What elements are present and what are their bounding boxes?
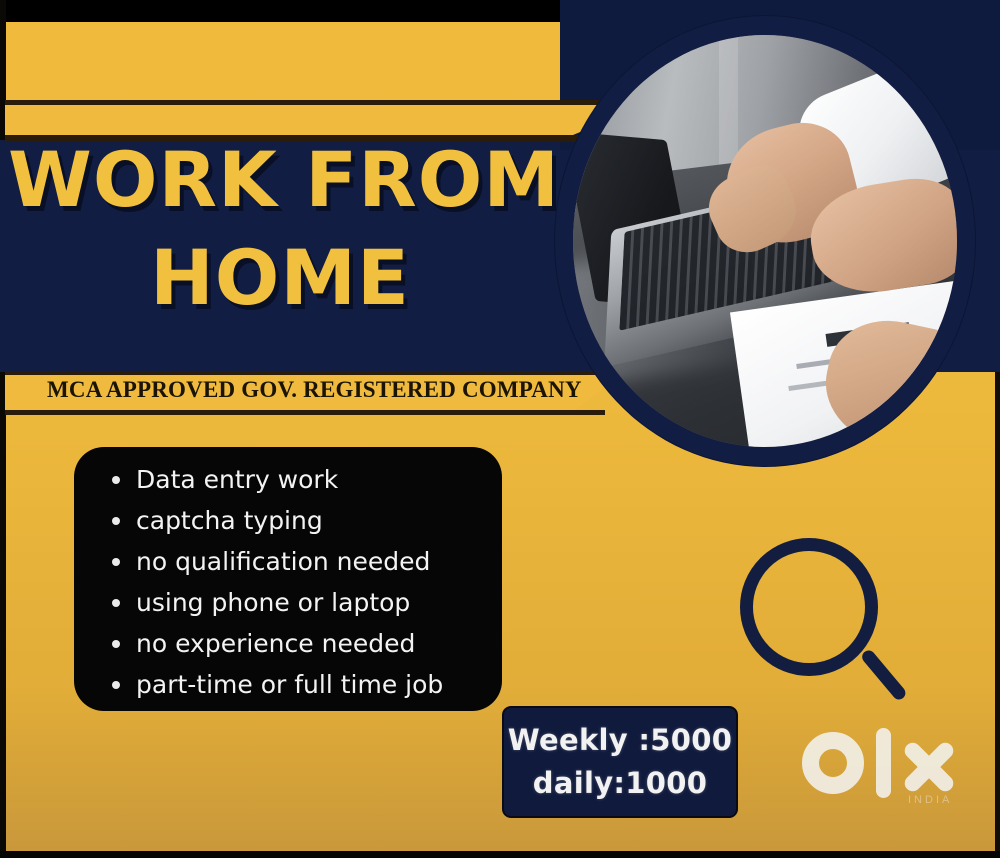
weekly-earnings-text: Weekly :5000 [504,719,736,762]
headline-line-1: WORK FROM [0,142,560,218]
daily-earnings-text: daily:1000 [504,762,736,805]
benefit-item: using phone or laptop [92,582,486,623]
decorative-yellow-wedge [5,105,645,137]
benefits-card: Data entry work captcha typing no qualif… [74,447,502,711]
olx-letter-x [900,738,958,796]
olx-letter-l [876,728,891,798]
photo-circle-ring [555,16,975,466]
decorative-rule-upper [5,100,640,105]
headline-line-2: HOME [0,240,560,316]
certification-banner: MCA APPROVED GOV. REGISTERED COMPANY [5,371,625,415]
olx-letter-o [802,732,864,794]
certification-banner-text: MCA APPROVED GOV. REGISTERED COMPANY [47,377,582,403]
benefit-item: part-time or full time job [92,664,486,705]
earnings-card: Weekly :5000 daily:1000 [502,706,738,818]
certification-rule-top [5,371,617,375]
magnifying-glass-icon [740,538,912,710]
poster-headline: WORK FROM HOME [0,142,560,316]
olx-watermark-tagline: INDIA [908,794,952,806]
benefit-item: no qualification needed [92,541,486,582]
benefits-list: Data entry work captcha typing no qualif… [92,459,486,705]
benefit-item: no experience needed [92,623,486,664]
olx-watermark-logo: INDIA [800,718,972,810]
frame-bottom-border [0,851,1000,858]
benefit-item: Data entry work [92,459,486,500]
magnifier-handle [860,648,909,702]
benefit-item: captcha typing [92,500,486,541]
laptop-typing-photo [573,35,957,447]
work-from-home-advertisement-poster: WORK FROM HOME MCA APPROVED GOV. REGISTE… [0,0,1000,858]
magnifier-lens [740,538,878,676]
certification-rule-bottom [5,410,605,415]
